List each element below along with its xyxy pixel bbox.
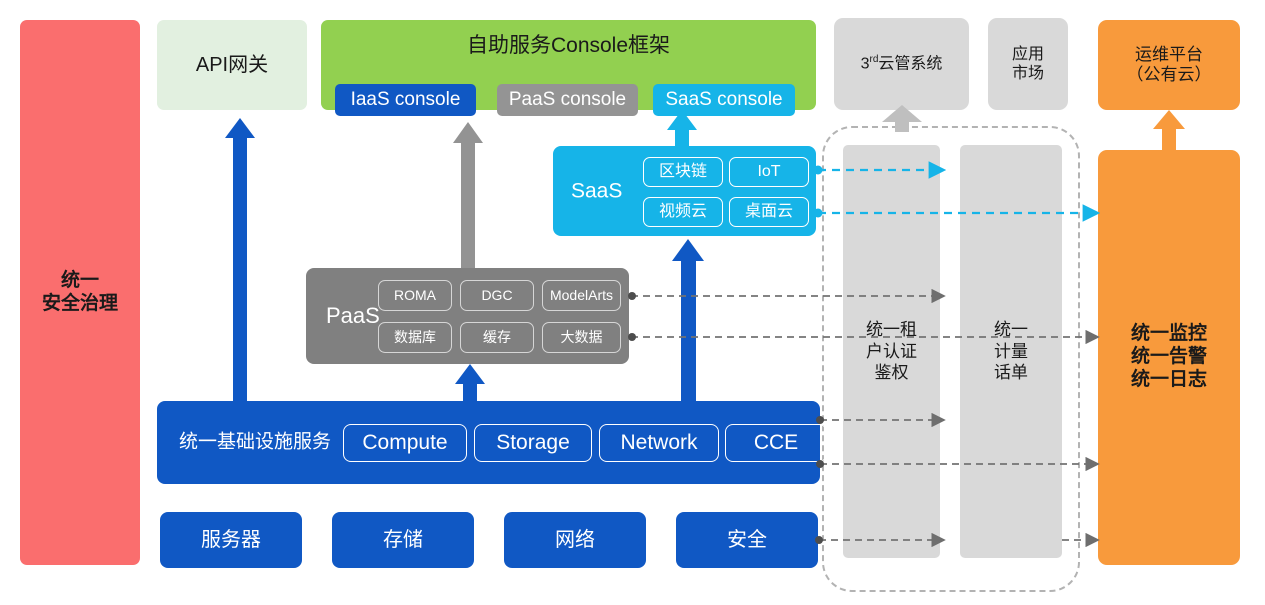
- infra-chip-storage-label: Storage: [496, 430, 570, 455]
- resource-tile-security-label: 安全: [727, 528, 767, 552]
- paas-console-chip[interactable]: PaaS console: [497, 84, 638, 116]
- infra-chip-compute[interactable]: Compute: [343, 424, 467, 462]
- paas-chip-bigdata-label: 大数据: [561, 329, 603, 346]
- paas-chip-modelarts-label: ModelArts: [550, 287, 613, 304]
- saas-layer-box[interactable]: SaaS 区块链 IoT 视频云 桌面云: [553, 146, 816, 236]
- monitoring-line-3: 统一日志: [1131, 369, 1207, 392]
- saas-chip-desktop-cloud-label: 桌面云: [745, 202, 793, 221]
- auth-line-3: 鉴权: [866, 362, 917, 384]
- saas-chip-desktop-cloud[interactable]: 桌面云: [729, 197, 809, 227]
- saas-label: SaaS: [571, 178, 622, 203]
- saas-console-label: SaaS console: [665, 89, 782, 112]
- resource-tile-storage[interactable]: 存储: [332, 512, 474, 568]
- saas-chip-video-cloud[interactable]: 视频云: [643, 197, 723, 227]
- architecture-diagram: 统一 安全治理 API网关 自助服务Console框架 IaaS console…: [0, 0, 1265, 605]
- ops-platform-text: 运维平台 （公有云）: [1127, 45, 1212, 86]
- app-market-box[interactable]: 应用 市场: [988, 18, 1068, 110]
- unified-security-governance-panel[interactable]: 统一 安全治理: [20, 20, 140, 565]
- unified-infrastructure-box[interactable]: 统一基础设施服务 Compute Storage Network CCE: [157, 401, 820, 484]
- api-gateway-box[interactable]: API网关: [157, 20, 307, 110]
- ops-platform-line-2: （公有云）: [1127, 65, 1212, 85]
- saas-chip-iot[interactable]: IoT: [729, 157, 809, 187]
- infrastructure-label: 统一基础设施服务: [179, 431, 331, 454]
- resource-tile-network-label: 网络: [555, 528, 595, 552]
- paas-chip-database[interactable]: 数据库: [378, 322, 452, 353]
- api-gateway-label: API网关: [196, 53, 268, 77]
- paas-console-label: PaaS console: [509, 89, 626, 112]
- paas-label: PaaS: [326, 303, 380, 329]
- saas-chip-blockchain[interactable]: 区块链: [643, 157, 723, 187]
- auth-line-1: 统一租: [866, 319, 917, 341]
- console-frame-title: 自助服务Console框架: [321, 33, 816, 58]
- connector-dot-paas-monitoring: [628, 333, 636, 341]
- paas-chip-database-label: 数据库: [394, 329, 436, 346]
- arrow-infra-to-api-gateway: [225, 118, 255, 401]
- saas-chip-blockchain-label: 区块链: [659, 162, 707, 181]
- paas-chip-roma-label: ROMA: [394, 287, 436, 304]
- paas-chip-dgc-label: DGC: [481, 287, 512, 304]
- third-party-label: 3rd云管系统: [861, 54, 943, 74]
- billing-line-3: 话单: [994, 362, 1028, 384]
- infra-chip-network-label: Network: [620, 430, 697, 455]
- paas-chip-dgc[interactable]: DGC: [460, 280, 534, 311]
- infra-chip-cce[interactable]: CCE: [725, 424, 827, 462]
- paas-chip-cache-label: 缓存: [483, 329, 511, 346]
- monitoring-line-1: 统一监控: [1131, 323, 1207, 346]
- iaas-console-chip[interactable]: IaaS console: [335, 84, 476, 116]
- third-party-cloud-management-box[interactable]: 3rd云管系统: [834, 18, 969, 110]
- unified-monitoring-text: 统一监控 统一告警 统一日志: [1131, 323, 1207, 391]
- paas-layer-box[interactable]: PaaS ROMA DGC ModelArts 数据库 缓存 大数据: [306, 268, 629, 364]
- saas-chip-iot-label: IoT: [757, 162, 780, 181]
- resource-tile-server[interactable]: 服务器: [160, 512, 302, 568]
- app-market-line-2: 市场: [1012, 64, 1044, 83]
- ops-platform-box[interactable]: 运维平台 （公有云）: [1098, 20, 1240, 110]
- security-panel-text: 统一 安全治理: [42, 270, 118, 316]
- auth-column-text: 统一租 户认证 鉴权: [866, 319, 917, 384]
- paas-chip-modelarts[interactable]: ModelArts: [542, 280, 621, 311]
- monitoring-line-2: 统一告警: [1131, 346, 1207, 369]
- saas-chip-video-cloud-label: 视频云: [659, 202, 707, 221]
- unified-monitoring-panel[interactable]: 统一监控 统一告警 统一日志: [1098, 150, 1240, 565]
- saas-console-chip[interactable]: SaaS console: [653, 84, 795, 116]
- billing-line-2: 计量: [994, 341, 1028, 363]
- infra-chip-network[interactable]: Network: [599, 424, 719, 462]
- arrow-paas-to-console: [453, 122, 483, 268]
- arrow-infra-to-paas: [455, 364, 485, 401]
- paas-chip-bigdata[interactable]: 大数据: [542, 322, 621, 353]
- resource-tile-security[interactable]: 安全: [676, 512, 818, 568]
- ops-platform-line-1: 运维平台: [1127, 45, 1212, 65]
- auth-line-2: 户认证: [866, 341, 917, 363]
- billing-column-text: 统一 计量 话单: [994, 319, 1028, 384]
- infra-chip-compute-label: Compute: [362, 430, 447, 455]
- infra-chip-storage[interactable]: Storage: [474, 424, 592, 462]
- self-service-console-frame[interactable]: 自助服务Console框架 IaaS console PaaS console …: [321, 20, 816, 110]
- security-line-2: 安全治理: [42, 293, 118, 316]
- resource-tile-storage-label: 存储: [383, 528, 423, 552]
- unified-tenant-auth-column[interactable]: 统一租 户认证 鉴权: [843, 145, 940, 558]
- security-line-1: 统一: [42, 270, 118, 293]
- arrow-monitoring-to-ops-platform: [1153, 110, 1185, 150]
- app-market-line-1: 应用: [1012, 45, 1044, 64]
- arrow-infra-to-saas: [672, 239, 704, 401]
- resource-tile-server-label: 服务器: [201, 528, 261, 552]
- unified-billing-column[interactable]: 统一 计量 话单: [960, 145, 1062, 558]
- billing-line-1: 统一: [994, 319, 1028, 341]
- iaas-console-label: IaaS console: [351, 89, 461, 112]
- resource-tile-network[interactable]: 网络: [504, 512, 646, 568]
- paas-chip-cache[interactable]: 缓存: [460, 322, 534, 353]
- connector-dot-paas-auth: [628, 292, 636, 300]
- infra-chip-cce-label: CCE: [754, 430, 798, 455]
- paas-chip-roma[interactable]: ROMA: [378, 280, 452, 311]
- app-market-text: 应用 市场: [1012, 45, 1044, 83]
